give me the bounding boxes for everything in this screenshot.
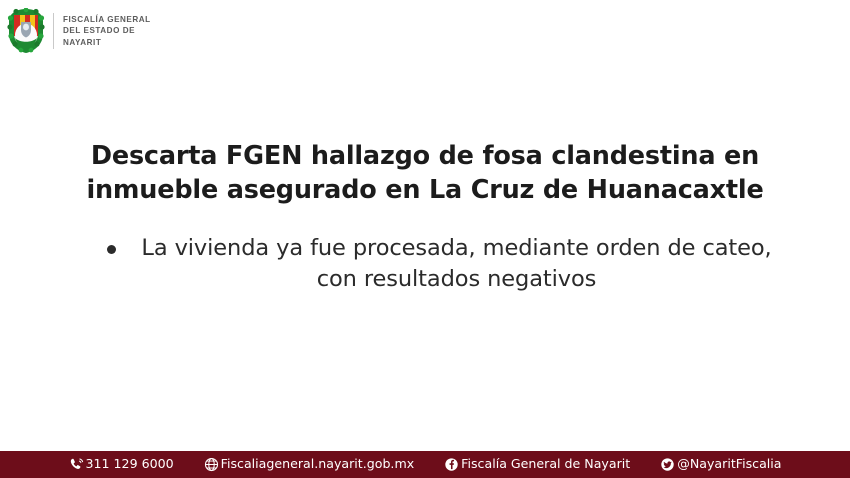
- brand-divider: [53, 13, 54, 49]
- footer-item-twitter[interactable]: @NayaritFiscalia: [660, 457, 781, 472]
- list-item: La vivienda ya fue procesada, mediante o…: [45, 233, 805, 295]
- footer-item-facebook[interactable]: Fiscalía General de Nayarit: [444, 457, 630, 472]
- footer-label-website: Fiscaliageneral.nayarit.gob.mx: [221, 458, 415, 471]
- footer-item-website[interactable]: Fiscaliageneral.nayarit.gob.mx: [204, 457, 415, 472]
- brand-lockup: FISCALÍA GENERAL DEL ESTADO DE NAYARIT: [7, 8, 151, 54]
- footer-label-facebook: Fiscalía General de Nayarit: [461, 458, 630, 471]
- page-title: Descarta FGEN hallazgo de fosa clandesti…: [75, 140, 775, 207]
- bullet-text: La vivienda ya fue procesada, mediante o…: [116, 233, 805, 295]
- facebook-icon: [444, 457, 459, 472]
- organization-name: FISCALÍA GENERAL DEL ESTADO DE NAYARIT: [63, 14, 151, 47]
- twitter-icon: [660, 457, 675, 472]
- slide-body: Descarta FGEN hallazgo de fosa clandesti…: [0, 140, 850, 295]
- bullet-dot-icon: [107, 245, 116, 254]
- footer-item-phone[interactable]: 311 129 6000: [69, 457, 174, 472]
- phone-icon: [69, 457, 84, 472]
- slide-header: FISCALÍA GENERAL DEL ESTADO DE NAYARIT: [0, 0, 850, 62]
- nayarit-coat-of-arms-icon: [7, 8, 45, 54]
- contact-footer-bar: 311 129 6000 Fiscaliageneral.nayarit.gob…: [0, 451, 850, 478]
- slide-canvas: FISCALÍA GENERAL DEL ESTADO DE NAYARIT D…: [0, 0, 850, 478]
- globe-icon: [204, 457, 219, 472]
- footer-label-phone: 311 129 6000: [86, 458, 174, 471]
- footer-label-twitter: @NayaritFiscalia: [677, 458, 781, 471]
